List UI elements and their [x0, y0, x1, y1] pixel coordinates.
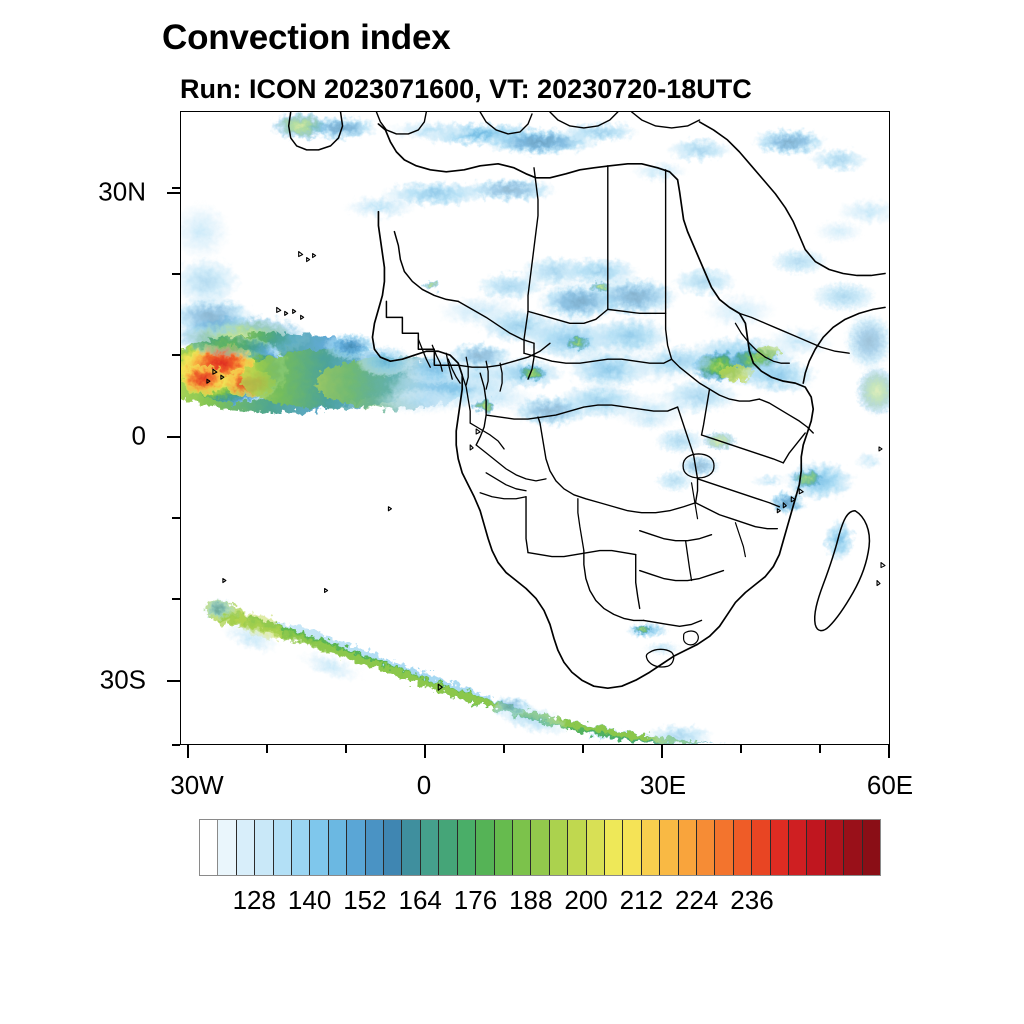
map-plot-area[interactable]: [180, 111, 890, 745]
colorbar-cell: [513, 820, 531, 875]
colorbar-cell: [863, 820, 880, 875]
y-axis-label-30S: 30S: [46, 665, 146, 696]
colorbar-tick-label: 188: [509, 885, 552, 916]
x-tick-minor: [819, 745, 821, 753]
colorbar-cell: [495, 820, 513, 875]
colorbar-tick-label: 152: [343, 885, 386, 916]
colorbar-cell: [771, 820, 789, 875]
y-tick-minor: [172, 598, 180, 600]
colorbar-cell: [292, 820, 310, 875]
y-tick-30N: [167, 192, 180, 194]
colorbar-cell: [807, 820, 825, 875]
colorbar-tick-label: 164: [398, 885, 441, 916]
x-tick-0: [424, 745, 426, 758]
x-tick-30E: [661, 745, 663, 758]
y-tick-0: [167, 436, 180, 438]
y-tick-minor: [172, 354, 180, 356]
colorbar-cell: [531, 820, 549, 875]
y-axis-label-30N: 30N: [46, 177, 146, 208]
x-axis-label-30E: 30E: [640, 770, 686, 801]
colorbar-tick-label: 236: [730, 885, 773, 916]
colorbar-cell: [789, 820, 807, 875]
colorbar-cell: [550, 820, 568, 875]
colorbar-tick-label: 176: [454, 885, 497, 916]
x-tick-30W: [187, 745, 189, 758]
x-axis-label-30W: 30W: [170, 770, 223, 801]
colorbar-tick-label: 200: [564, 885, 607, 916]
x-tick-minor: [266, 745, 268, 753]
y-tick-minor: [172, 273, 180, 275]
colorbar-cell: [366, 820, 384, 875]
y-tick-30S: [167, 680, 180, 682]
colorbar-tick-label: 224: [675, 885, 718, 916]
colorbar-cell: [310, 820, 328, 875]
x-tick-minor: [582, 745, 584, 753]
y-tick-minor: [172, 517, 180, 519]
colorbar-cell: [568, 820, 586, 875]
colorbar-tick-label: 212: [620, 885, 663, 916]
colorbar-cell: [402, 820, 420, 875]
colorbar-cell: [679, 820, 697, 875]
colorbar-cell: [439, 820, 457, 875]
y-tick-minor: [172, 187, 180, 189]
colorbar-cell: [329, 820, 347, 875]
page-title: Convection index: [162, 18, 451, 58]
colorbar-tick-label: 128: [233, 885, 276, 916]
colorbar-cell: [255, 820, 273, 875]
colorbar-cell: [218, 820, 236, 875]
colorbar-cell: [421, 820, 439, 875]
x-axis-label-0: 0: [417, 770, 431, 801]
colorbar-cell: [826, 820, 844, 875]
colorbar-cell: [752, 820, 770, 875]
x-tick-minor: [503, 745, 505, 753]
y-tick-minor: [172, 744, 180, 746]
colorbar-cell: [587, 820, 605, 875]
colorbar-cell: [237, 820, 255, 875]
colorbar-cell: [384, 820, 402, 875]
colorbar-cell: [200, 820, 218, 875]
x-axis-label-60E: 60E: [867, 770, 913, 801]
coastline-and-borders-overlay: [181, 112, 889, 744]
colorbar-cell: [642, 820, 660, 875]
colorbar-cell: [347, 820, 365, 875]
colorbar-cell: [274, 820, 292, 875]
colorbar-cell: [458, 820, 476, 875]
colorbar-cell: [605, 820, 623, 875]
x-tick-minor: [740, 745, 742, 753]
colorbar-cell: [734, 820, 752, 875]
colorbar-cell: [697, 820, 715, 875]
colorbar-cell: [623, 820, 641, 875]
colorbar-cell: [476, 820, 494, 875]
y-axis-label-0: 0: [46, 421, 146, 452]
colorbar-cell: [715, 820, 733, 875]
chart-subtitle: Run: ICON 2023071600, VT: 20230720-18UTC: [180, 74, 752, 105]
colorbar-tick-label: 140: [288, 885, 331, 916]
colorbar[interactable]: [199, 819, 881, 876]
colorbar-cell: [844, 820, 862, 875]
colorbar-cell: [660, 820, 678, 875]
x-tick-minor: [345, 745, 347, 753]
x-tick-60E: [888, 745, 890, 758]
